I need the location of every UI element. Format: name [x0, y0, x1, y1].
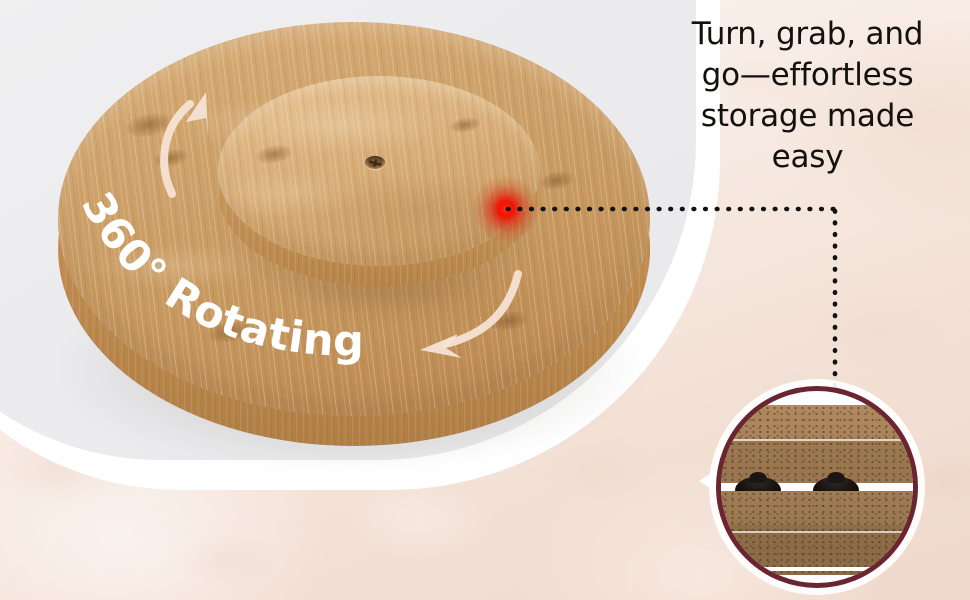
rotating-design-label: 360° Rotating Design [60, 160, 490, 410]
headline-text: Turn, grab, and go—effortless storage ma… [655, 14, 960, 178]
callout-upper-bamboo-slab [716, 405, 918, 483]
svg-text:360° Rotating Design: 360° Rotating Design [60, 160, 380, 367]
callout-lower-seam [716, 531, 918, 533]
product-infographic: 360° Rotating Design Turn, grab, and go—… [0, 0, 970, 600]
callout-base-seam [716, 567, 918, 571]
headline-line-2: go—effortless [655, 55, 960, 96]
callout-upper-seam [716, 439, 918, 441]
headline-line-4: easy [655, 137, 960, 178]
bearing-detail-callout [716, 386, 918, 588]
headline-line-3: storage made [655, 96, 960, 137]
rotating-design-text: 360° Rotating Design [60, 160, 380, 367]
headline-line-1: Turn, grab, and [655, 14, 960, 55]
callout-lower-bamboo-slab [716, 491, 918, 575]
bearing-location-marker [472, 176, 540, 242]
bamboo-speckle-texture [716, 405, 918, 483]
bamboo-speckle-texture [716, 491, 918, 575]
